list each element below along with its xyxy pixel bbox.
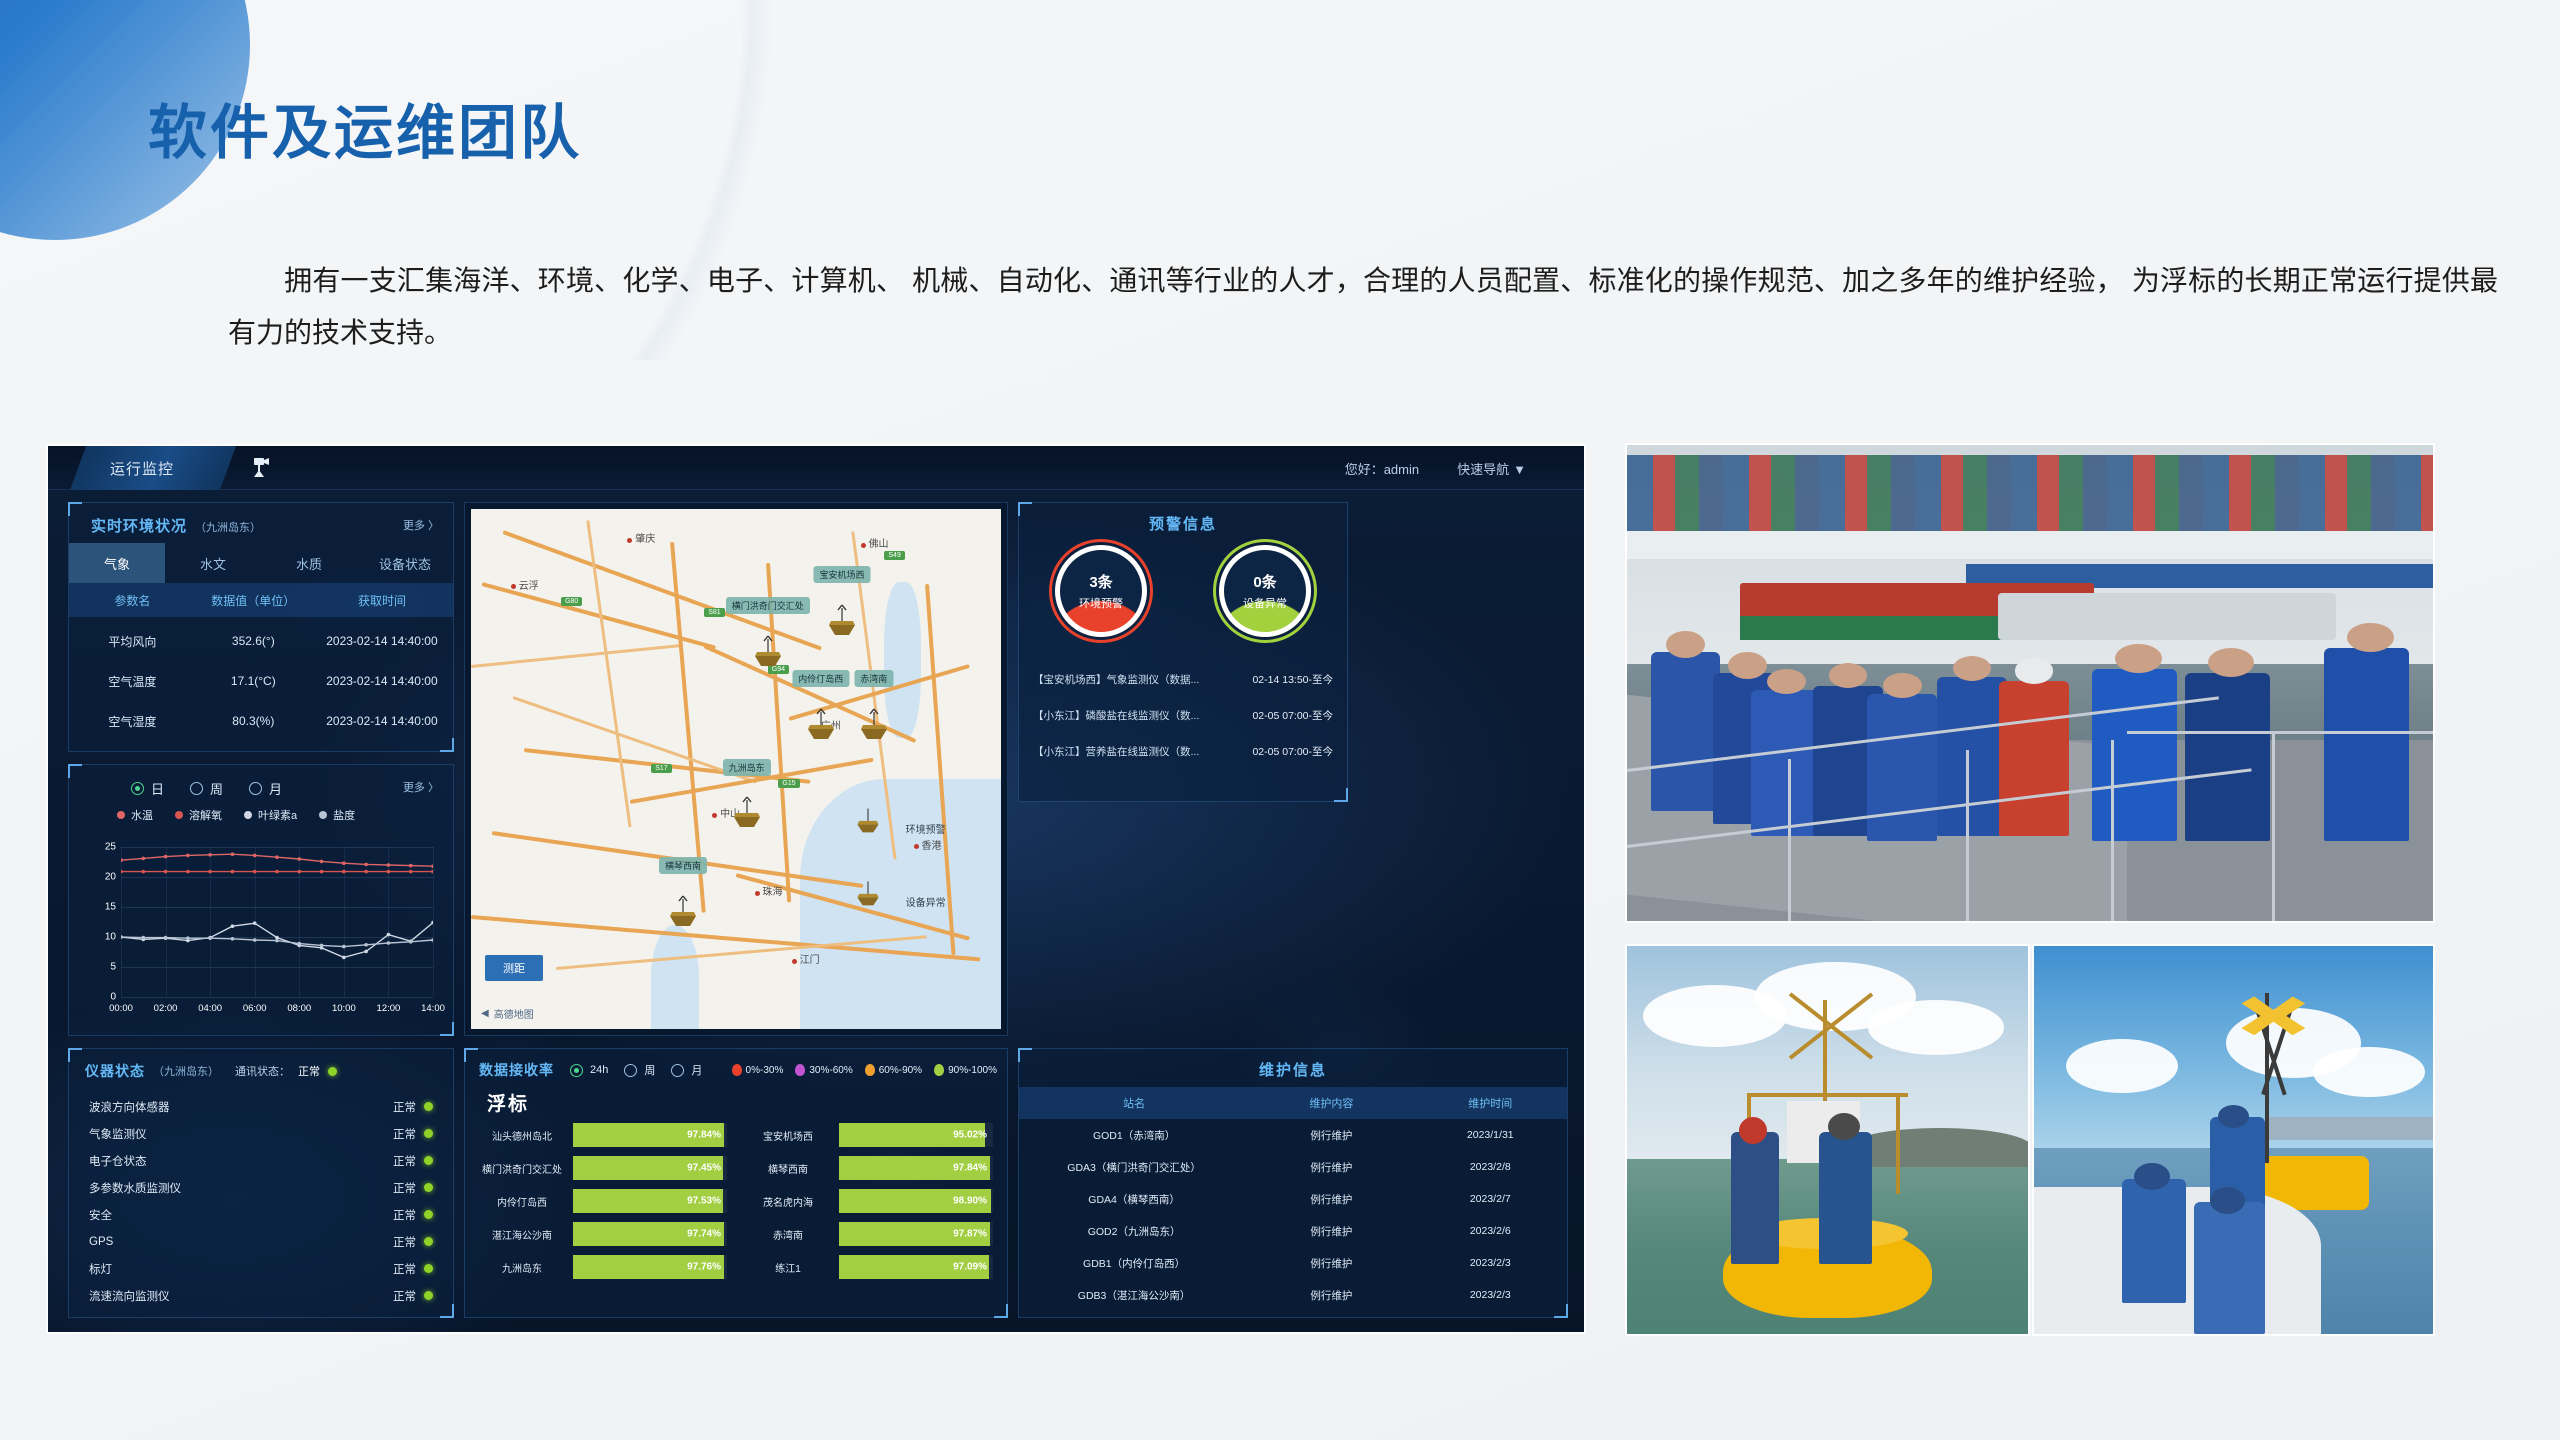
photo-buoy-maintenance-left <box>1625 944 2030 1336</box>
map-city-label: 珠海 <box>763 883 783 898</box>
chart-gridline-v <box>433 847 434 997</box>
maintenance-table-header: 站名 维护内容 维护时间 <box>1019 1087 1567 1119</box>
chart-legend-item[interactable]: 溶解氧 <box>175 807 222 823</box>
maint-cell-content: 例行维护 <box>1249 1256 1413 1271</box>
maint-cell-date: 2023/2/6 <box>1414 1225 1567 1237</box>
rate-legend-item: 90%-100% <box>934 1064 997 1076</box>
env-cell-time: 2023-02-14 14:40:00 <box>311 674 453 688</box>
rate-bar-list: 汕头德州岛北97.84%宝安机场西95.02%横门洪奇门交汇处97.45%横琴西… <box>479 1123 993 1279</box>
env-alarm-label: 环境预警 <box>1079 595 1123 611</box>
rate-bar-row: 茂名虎内海98.90% <box>745 1189 993 1213</box>
instrument-status: 正常 <box>393 1261 433 1277</box>
rate-bar-label: 横琴西南 <box>745 1161 831 1176</box>
rate-bar-label: 横门洪奇门交汇处 <box>479 1161 565 1176</box>
range-month[interactable]: 月 <box>249 779 282 798</box>
header-tab-label[interactable]: 运行监控 <box>110 458 174 479</box>
instrument-station: （九洲岛东） <box>153 1063 219 1079</box>
instrument-status: 正常 <box>393 1207 433 1223</box>
data-rate-panel: 数据接收率 24h 周 月 0%-30%30%-60%60%-90%90%-10… <box>464 1048 1008 1318</box>
range-day[interactable]: 日 <box>131 779 164 798</box>
map-city-label: 佛山 <box>869 535 889 550</box>
status-indicator-icon <box>424 1102 433 1111</box>
header-user-area: 您好：admin 快速导航▼ <box>1345 459 1526 478</box>
env-alarm-gauge[interactable]: 3条 环境预警 <box>1055 545 1147 637</box>
maint-cell-date: 2023/2/3 <box>1414 1257 1567 1269</box>
map-city-dot <box>861 543 866 548</box>
map-buoy-label[interactable]: 横琴西南 <box>659 857 707 874</box>
list-item[interactable]: 【小东江】磷酸盐在线监测仪（数... 02-05 07:00-至今 <box>1033 697 1333 733</box>
chevron-down-icon: ▼ <box>1513 462 1526 477</box>
maintenance-panel-title: 维护信息 <box>1019 1059 1567 1080</box>
rate-bar-track: 97.09% <box>839 1255 993 1279</box>
highway-badge: S81 <box>704 608 724 617</box>
maint-col-date: 维护时间 <box>1414 1095 1567 1111</box>
photo-team-on-dock <box>1625 443 2435 923</box>
rate-range-24h[interactable]: 24h <box>570 1064 608 1077</box>
env-tab-bar: 气象 水文 水质 设备状态 <box>69 543 453 583</box>
rate-bar-row: 湛江海公沙南97.74% <box>479 1222 727 1246</box>
maint-cell-content: 例行维护 <box>1249 1128 1413 1143</box>
radio-dot-month <box>671 1064 684 1077</box>
instrument-status: 正常 <box>393 1234 433 1250</box>
map-buoy-marker[interactable] <box>853 878 887 912</box>
table-row: GDB3（湛江海公沙南）例行维护2023/2/3 <box>1019 1279 1567 1311</box>
maint-cell-content: 例行维护 <box>1249 1160 1413 1175</box>
env-cell-value: 352.6(°) <box>196 634 311 648</box>
x-axis-tick: 04:00 <box>198 1003 222 1014</box>
env-status-panel: 实时环境状况（九洲岛东） 更多 〉 气象 水文 水质 设备状态 参数名 数据值（… <box>68 502 454 752</box>
maint-cell-date: 2023/2/7 <box>1414 1193 1567 1205</box>
rate-bar-row: 汕头德州岛北97.84% <box>479 1123 727 1147</box>
alarm-time: 02-05 07:00-至今 <box>1252 744 1333 759</box>
rate-group-label: 浮标 <box>487 1089 529 1116</box>
map-city-label: 云浮 <box>519 577 539 592</box>
env-table-header: 参数名 数据值（单位） 获取时间 <box>69 583 453 617</box>
instrument-panel-title: 仪器状态 <box>85 1061 145 1081</box>
alarm-text: 【小东江】磷酸盐在线监测仪（数... <box>1033 708 1199 723</box>
map-canvas[interactable]: 测距 ◀ 高德地图 G80S81G94S17G15S49肇庆佛山云浮中山广州珠海… <box>471 509 1001 1029</box>
map-buoy-marker[interactable] <box>804 707 838 741</box>
chart-more-link[interactable]: 更多 〉 <box>403 779 439 795</box>
chart-legend-item[interactable]: 叶绿素a <box>244 807 297 823</box>
instrument-name: 气象监测仪 <box>89 1126 147 1142</box>
status-indicator-icon <box>424 1264 433 1273</box>
env-cell-name: 空气温度 <box>69 673 196 690</box>
env-more-link[interactable]: 更多 〉 <box>403 517 439 533</box>
rate-bar-track: 97.87% <box>839 1222 993 1246</box>
rate-bar-value: 97.09% <box>953 1262 987 1273</box>
radio-dot-24h <box>570 1064 583 1077</box>
instrument-panel-header: 仪器状态 （九洲岛东） 通讯状态： 正常 <box>85 1061 337 1081</box>
bay-area <box>651 925 699 1029</box>
y-axis-tick: 25 <box>105 842 116 853</box>
tab-hydrology[interactable]: 水文 <box>165 543 261 583</box>
chart-gridline <box>121 997 433 998</box>
table-row: GDA3（横门洪奇门交汇处）例行维护2023/2/8 <box>1019 1151 1567 1183</box>
alarm-text: 【宝安机场西】气象监测仪（数据... <box>1033 672 1199 687</box>
comm-status-label: 通讯状态： <box>235 1063 290 1079</box>
env-cell-value: 17.1(°C) <box>196 674 311 688</box>
tab-water-quality[interactable]: 水质 <box>261 543 357 583</box>
map-buoy-label[interactable]: 赤湾南 <box>854 670 893 687</box>
env-col-time: 获取时间 <box>311 592 453 609</box>
rate-bar-track: 97.74% <box>573 1222 727 1246</box>
status-indicator-icon <box>424 1129 433 1138</box>
rate-bar-value: 97.87% <box>953 1229 987 1240</box>
env-cell-name: 空气湿度 <box>69 713 196 730</box>
instrument-name: 波浪方向体感器 <box>89 1099 170 1115</box>
highway-badge: S49 <box>884 551 904 560</box>
x-axis-tick: 06:00 <box>243 1003 267 1014</box>
range-week[interactable]: 周 <box>190 779 223 798</box>
map-buoy-marker[interactable] <box>857 707 891 741</box>
instrument-row: 流速流向监测仪正常 <box>89 1282 433 1309</box>
chart-legend: 水温溶解氧叶绿素a盐度 <box>117 807 355 823</box>
instrument-name: GPS <box>89 1236 113 1248</box>
maint-cell-station: GDA3（横门洪奇门交汇处） <box>1019 1160 1249 1175</box>
rate-legend-item: 30%-60% <box>795 1064 852 1076</box>
y-axis-tick: 20 <box>105 872 116 883</box>
alarm-time: 02-05 07:00-至今 <box>1252 708 1333 723</box>
instrument-name: 标灯 <box>89 1261 112 1277</box>
rate-bar-row: 九洲岛东97.76% <box>479 1255 727 1279</box>
y-axis-tick: 0 <box>110 992 116 1003</box>
chart-series-svg <box>121 847 433 997</box>
measure-distance-button[interactable]: 测距 <box>485 955 543 981</box>
maint-cell-station: GDB3（湛江海公沙南） <box>1019 1288 1249 1303</box>
env-col-name: 参数名 <box>69 592 196 609</box>
dashboard-screenshot: 运行监控 您好：admin 快速导航▼ 实时环境状况（九洲岛东） 更多 〉 <box>46 444 1586 1334</box>
map-buoy-label[interactable]: 横门洪奇门交汇处 <box>726 597 810 614</box>
rate-bar-label: 茂名虎内海 <box>745 1194 831 1209</box>
rate-bar-label: 内伶仃岛西 <box>479 1194 565 1209</box>
maint-cell-content: 例行维护 <box>1249 1288 1413 1303</box>
slide-page: 软件及运维团队 拥有一支汇集海洋、环境、化学、电子、计算机、 机械、自动化、通讯… <box>0 0 2560 1440</box>
camera-icon[interactable] <box>248 455 274 481</box>
y-axis-tick: 15 <box>105 902 116 913</box>
map-road <box>513 696 758 783</box>
maint-cell-station: GDB1（内伶仃岛西） <box>1019 1256 1249 1271</box>
x-axis-tick: 14:00 <box>421 1003 445 1014</box>
amap-credit: ◀ 高德地图 <box>481 1006 534 1021</box>
quick-nav-button[interactable]: 快速导航▼ <box>1457 459 1526 478</box>
env-cell-value: 80.3(%) <box>196 714 311 728</box>
table-row: GDA4（横琴西南）例行维护2023/2/7 <box>1019 1183 1567 1215</box>
rate-bar-value: 97.84% <box>953 1163 987 1174</box>
radio-dot-week <box>190 782 203 795</box>
map-road <box>471 644 683 668</box>
maint-cell-content: 例行维护 <box>1249 1224 1413 1239</box>
table-row: GOD2（九洲岛东）例行维护2023/2/6 <box>1019 1215 1567 1247</box>
map-city-dot <box>755 891 760 896</box>
rate-bar-track: 95.02% <box>839 1123 993 1147</box>
rate-bar-row: 内伶仃岛西97.53% <box>479 1189 727 1213</box>
list-item[interactable]: 【宝安机场西】气象监测仪（数据... 02-14 13:50-至今 <box>1033 661 1333 697</box>
comm-status-value: 正常 <box>298 1063 320 1079</box>
map-city-label: 肇庆 <box>635 530 655 545</box>
y-axis-tick: 5 <box>110 962 116 973</box>
instrument-name: 安全 <box>89 1207 112 1223</box>
greeting-text: 您好：admin <box>1345 459 1419 478</box>
rate-bar-label: 湛江海公沙南 <box>479 1227 565 1242</box>
maint-cell-content: 例行维护 <box>1249 1192 1413 1207</box>
rate-range-month[interactable]: 月 <box>671 1062 702 1078</box>
map-city-label: 香港 <box>922 837 942 852</box>
maint-col-station: 站名 <box>1019 1095 1249 1111</box>
rate-bar-label: 赤湾南 <box>745 1227 831 1242</box>
amap-logo-icon: ◀ <box>481 1008 489 1019</box>
x-axis-tick: 10:00 <box>332 1003 356 1014</box>
page-title: 软件及运维团队 <box>148 85 582 170</box>
instrument-list: 波浪方向体感器正常气象监测仪正常电子仓状态正常多参数水质监测仪正常安全正常GPS… <box>89 1093 433 1309</box>
rate-bar-row: 宝安机场西95.02% <box>745 1123 993 1147</box>
map-city-dot <box>627 538 632 543</box>
map-buoy-marker[interactable] <box>730 795 764 829</box>
status-indicator-icon <box>424 1156 433 1165</box>
table-row: 空气温度 17.1(°C) 2023-02-14 14:40:00 <box>69 661 453 701</box>
instrument-status: 正常 <box>393 1126 433 1142</box>
rate-bar-track: 97.45% <box>573 1156 727 1180</box>
x-axis-tick: 08:00 <box>287 1003 311 1014</box>
radio-dot-day <box>131 782 144 795</box>
status-indicator-icon <box>424 1183 433 1192</box>
x-axis-tick: 12:00 <box>377 1003 401 1014</box>
instrument-status: 正常 <box>393 1099 433 1115</box>
device-alarm-gauge[interactable]: 0条 设备异常 <box>1219 545 1311 637</box>
table-row: 空气湿度 80.3(%) 2023-02-14 14:40:00 <box>69 701 453 741</box>
instrument-row: 电子仓状态正常 <box>89 1147 433 1174</box>
map-buoy-label[interactable]: 九洲岛东 <box>723 759 771 776</box>
instrument-name: 多参数水质监测仪 <box>89 1180 181 1196</box>
status-indicator-icon <box>424 1237 433 1246</box>
rate-bar-row: 赤湾南97.87% <box>745 1222 993 1246</box>
map-buoy-marker[interactable] <box>666 894 700 928</box>
highway-badge: G80 <box>561 597 582 606</box>
rate-bar-label: 练江1 <box>745 1260 831 1275</box>
instrument-row: 气象监测仪正常 <box>89 1120 433 1147</box>
instrument-row: 多参数水质监测仪正常 <box>89 1174 433 1201</box>
instrument-status: 正常 <box>393 1288 433 1304</box>
rate-bar-value: 97.74% <box>687 1229 721 1240</box>
chart-legend-item[interactable]: 盐度 <box>319 807 355 823</box>
env-panel-station: （九洲岛东） <box>195 522 261 534</box>
alarm-text: 【小东江】营养盐在线监测仪（数... <box>1033 744 1199 759</box>
table-row: GOD1（赤湾南）例行维护2023/1/31 <box>1019 1119 1567 1151</box>
list-item[interactable]: 【小东江】营养盐在线监测仪（数... 02-05 07:00-至今 <box>1033 733 1333 769</box>
map-panel[interactable]: 测距 ◀ 高德地图 G80S81G94S17G15S49肇庆佛山云浮中山广州珠海… <box>464 502 1008 1036</box>
highway-badge: S17 <box>651 764 671 773</box>
maint-cell-station: GOD1（赤湾南） <box>1019 1128 1249 1143</box>
rate-bar-track: 97.76% <box>573 1255 727 1279</box>
rate-bar-value: 95.02% <box>953 1130 987 1141</box>
alarm-list: 【宝安机场西】气象监测仪（数据... 02-14 13:50-至今 【小东江】磷… <box>1033 661 1333 769</box>
maint-cell-station: GDA4（横琴西南） <box>1019 1192 1249 1207</box>
status-indicator-icon <box>424 1210 433 1219</box>
env-cell-name: 平均风向 <box>69 633 196 650</box>
radio-dot-month <box>249 782 262 795</box>
rate-bar-value: 98.90% <box>953 1196 987 1207</box>
instrument-row: 标灯正常 <box>89 1255 433 1282</box>
map-buoy-label[interactable]: 宝安机场西 <box>813 566 870 583</box>
instrument-status: 正常 <box>393 1180 433 1196</box>
alarm-panel-title: 预警信息 <box>1019 513 1347 534</box>
rate-bar-label: 九洲岛东 <box>479 1260 565 1275</box>
rate-range-week[interactable]: 周 <box>624 1062 655 1078</box>
rate-panel-title: 数据接收率 <box>479 1060 554 1080</box>
rate-bar-value: 97.45% <box>687 1163 721 1174</box>
rate-bar-track: 97.53% <box>573 1189 727 1213</box>
alarm-gauges: 3条 环境预警 0条 设备异常 <box>1019 545 1347 637</box>
rate-bar-value: 97.53% <box>687 1196 721 1207</box>
x-axis-tick: 02:00 <box>154 1003 178 1014</box>
tab-meteorology[interactable]: 气象 <box>69 543 165 583</box>
env-col-value: 数据值（单位） <box>196 592 311 609</box>
env-cell-time: 2023-02-14 14:40:00 <box>311 714 453 728</box>
alarm-panel: 预警信息 3条 环境预警 0条 设备异常 【宝安机场西】气象监测仪（数据... <box>1018 502 1348 802</box>
page-paragraph-text: 拥有一支汇集海洋、环境、化学、电子、计算机、 机械、自动化、通讯等行业的人才，合… <box>228 265 2498 348</box>
photo-buoy-maintenance-right <box>2032 944 2435 1336</box>
rate-panel-header: 数据接收率 24h 周 月 0%-30%30%-60%60%-90%90%-10… <box>479 1060 997 1080</box>
table-row: 平均风向 352.6(°) 2023-02-14 14:40:00 <box>69 621 453 661</box>
map-city-dot <box>792 959 797 964</box>
map-buoy-marker[interactable] <box>853 805 887 839</box>
rate-bar-row: 横门洪奇门交汇处97.45% <box>479 1156 727 1180</box>
rate-legend-item: 60%-90% <box>865 1064 922 1076</box>
chart-range-radios: 日 周 月 <box>131 779 282 798</box>
rate-legend-item: 0%-30% <box>732 1064 784 1076</box>
maintenance-panel: 维护信息 站名 维护内容 维护时间 GOD1（赤湾南）例行维护2023/1/31… <box>1018 1048 1568 1318</box>
map-buoy-marker[interactable] <box>825 603 859 637</box>
status-indicator-icon <box>328 1067 337 1076</box>
trend-chart-panel: 更多 〉 日 周 月 水温溶解氧叶绿素a盐度 051015202500:0002… <box>68 764 454 1036</box>
map-city-label: 江门 <box>800 951 820 966</box>
rate-bar-label: 汕头德州岛北 <box>479 1128 565 1143</box>
maint-cell-date: 2023/2/3 <box>1414 1289 1567 1301</box>
map-city-dot <box>511 584 516 589</box>
instrument-row: 波浪方向体感器正常 <box>89 1093 433 1120</box>
rate-bar-value: 97.76% <box>687 1262 721 1273</box>
maint-cell-station: GOD2（九洲岛东） <box>1019 1224 1249 1239</box>
radio-dot-week <box>624 1064 637 1077</box>
device-alarm-count: 0条 <box>1253 571 1276 592</box>
status-indicator-icon <box>424 1291 433 1300</box>
rate-bar-row: 横琴西南97.84% <box>745 1156 993 1180</box>
instrument-name: 流速流向监测仪 <box>89 1288 170 1304</box>
maintenance-table-body: GOD1（赤湾南）例行维护2023/1/31GDA3（横门洪奇门交汇处）例行维护… <box>1019 1119 1567 1311</box>
chart-plot-area: 051015202500:0002:0004:0006:0008:0010:00… <box>121 847 433 997</box>
rate-legend: 0%-30%30%-60%60%-90%90%-100% <box>732 1064 997 1076</box>
map-road <box>586 520 631 828</box>
instrument-status: 正常 <box>393 1153 433 1169</box>
instrument-name: 电子仓状态 <box>89 1153 147 1169</box>
env-panel-title: 实时环境状况（九洲岛东） <box>91 515 261 536</box>
maint-cell-date: 2023/1/31 <box>1414 1129 1567 1141</box>
env-alarm-count: 3条 <box>1089 571 1112 592</box>
rate-bar-track: 97.84% <box>573 1123 727 1147</box>
env-cell-time: 2023-02-14 14:40:00 <box>311 634 453 648</box>
highway-badge: G15 <box>778 779 799 788</box>
instrument-status-panel: 仪器状态 （九洲岛东） 通讯状态： 正常 波浪方向体感器正常气象监测仪正常电子仓… <box>68 1048 454 1318</box>
rate-bar-track: 97.84% <box>839 1156 993 1180</box>
map-plain-label: 环境预警 <box>906 821 946 836</box>
table-row: GDB1（内伶仃岛西）例行维护2023/2/3 <box>1019 1247 1567 1279</box>
chart-legend-item[interactable]: 水温 <box>117 807 153 823</box>
rate-bar-label: 宝安机场西 <box>745 1128 831 1143</box>
tab-device-status[interactable]: 设备状态 <box>357 543 453 583</box>
page-paragraph: 拥有一支汇集海洋、环境、化学、电子、计算机、 机械、自动化、通讯等行业的人才，合… <box>228 255 2498 359</box>
map-buoy-marker[interactable] <box>751 634 785 668</box>
map-city-dot <box>712 813 717 818</box>
rate-bar-track: 98.90% <box>839 1189 993 1213</box>
dashboard-header: 运行监控 您好：admin 快速导航▼ <box>48 446 1584 490</box>
maint-col-content: 维护内容 <box>1249 1095 1413 1111</box>
y-axis-tick: 10 <box>105 932 116 943</box>
sea-area <box>800 779 1001 1029</box>
rate-bar-value: 97.84% <box>687 1130 721 1141</box>
rate-bar-row: 练江197.09% <box>745 1255 993 1279</box>
instrument-row: 安全正常 <box>89 1201 433 1228</box>
x-axis-tick: 00:00 <box>109 1003 133 1014</box>
map-buoy-label[interactable]: 内伶仃岛西 <box>792 670 849 687</box>
device-alarm-label: 设备异常 <box>1243 595 1287 611</box>
maint-cell-date: 2023/2/8 <box>1414 1161 1567 1173</box>
alarm-time: 02-14 13:50-至今 <box>1252 672 1333 687</box>
map-plain-label: 设备异常 <box>906 894 946 909</box>
instrument-row: GPS正常 <box>89 1228 433 1255</box>
